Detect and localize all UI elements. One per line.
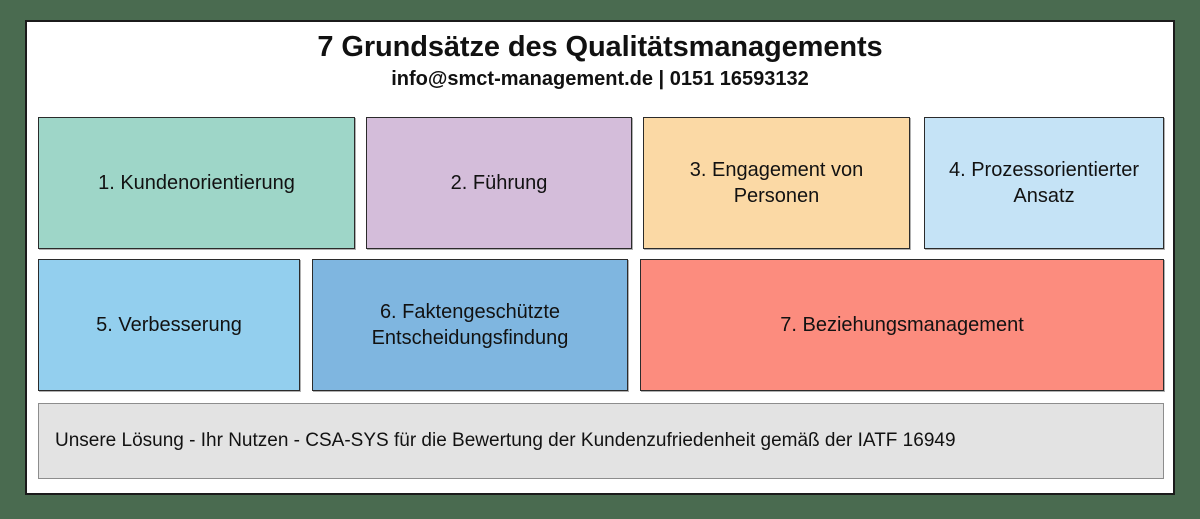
principle-card-1[interactable]: 1. Kundenorientierung (38, 117, 355, 249)
footer-text: Unsere Lösung - Ihr Nutzen - CSA-SYS für… (55, 429, 956, 454)
principles-row-2: 5. Verbesserung 6. Faktengeschützte Ents… (38, 259, 1164, 391)
principle-card-6[interactable]: 6. Faktengeschützte Entscheidungsfindung (312, 259, 628, 391)
principles-row-1: 1. Kundenorientierung 2. Führung 3. Enga… (38, 117, 1164, 249)
principle-card-1-label: 1. Kundenorientierung (98, 170, 295, 196)
principle-card-4[interactable]: 4. Prozessorientierter Ansatz (924, 117, 1164, 249)
principle-card-3-label: 3. Engagement von Personen (654, 157, 899, 210)
principle-card-7[interactable]: 7. Beziehungsmanagement (640, 259, 1164, 391)
principle-card-3[interactable]: 3. Engagement von Personen (643, 117, 910, 249)
footer-banner: Unsere Lösung - Ihr Nutzen - CSA-SYS für… (38, 403, 1164, 479)
principle-card-7-label: 7. Beziehungsmanagement (780, 312, 1024, 338)
principle-card-6-label: 6. Faktengeschützte Entscheidungsfindung (323, 299, 617, 352)
principles-grid: 1. Kundenorientierung 2. Führung 3. Enga… (38, 117, 1164, 392)
slide-panel: 7 Grundsätze des Qualitätsmanagements in… (25, 20, 1175, 495)
contact-subtitle: info@smct-management.de | 0151 16593132 (27, 67, 1173, 92)
principle-card-2[interactable]: 2. Führung (366, 117, 632, 249)
principle-card-4-label: 4. Prozessorientierter Ansatz (935, 157, 1153, 210)
principle-card-2-label: 2. Führung (451, 170, 548, 196)
principle-card-5[interactable]: 5. Verbesserung (38, 259, 300, 391)
principle-card-5-label: 5. Verbesserung (96, 312, 242, 338)
slide-header: 7 Grundsätze des Qualitätsmanagements in… (27, 22, 1173, 92)
page-title: 7 Grundsätze des Qualitätsmanagements (27, 30, 1173, 65)
